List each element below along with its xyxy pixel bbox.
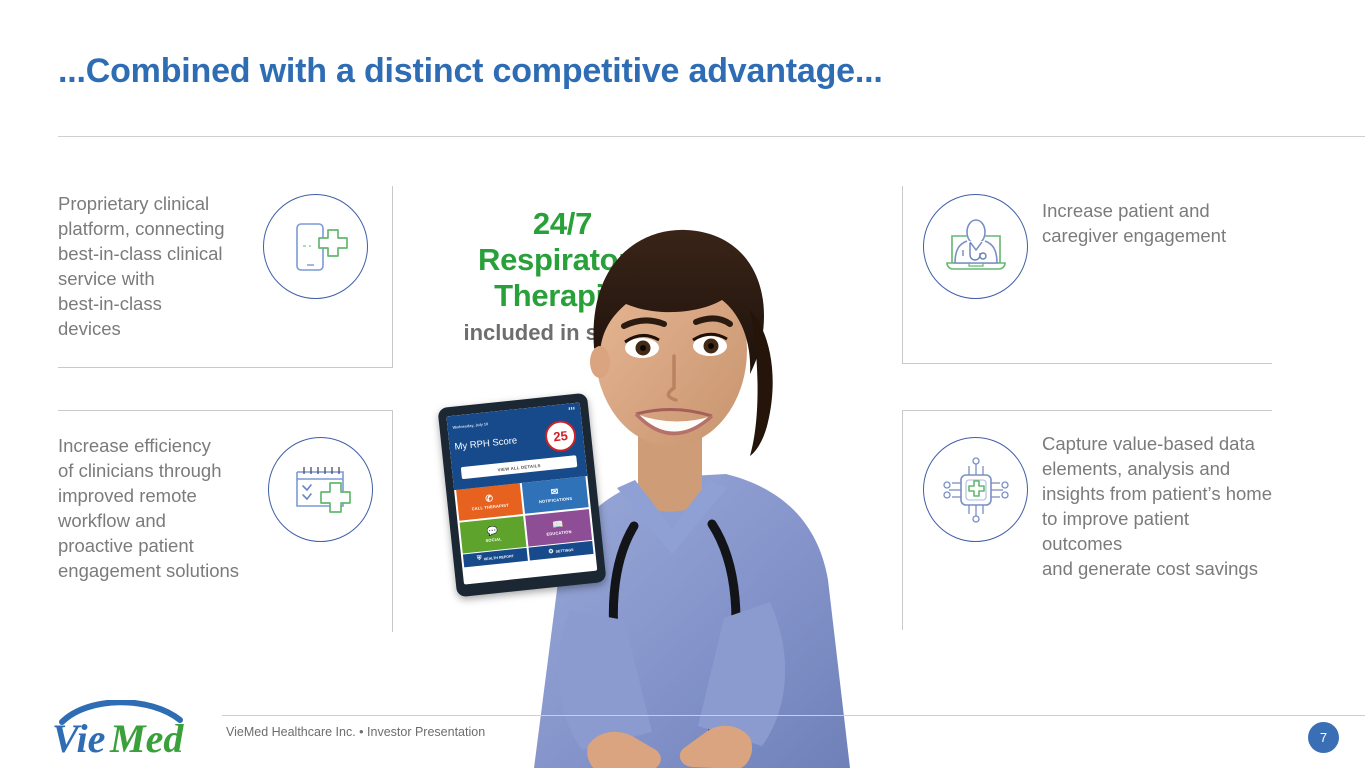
card-proprietary-platform: Proprietary clinical platform, connectin…	[58, 186, 393, 368]
envelope-icon: ✉	[550, 487, 559, 497]
footer-caption: VieMed Healthcare Inc. • Investor Presen…	[226, 725, 485, 739]
shield-icon: ⛨	[477, 556, 482, 563]
phone-icon: ✆	[485, 494, 494, 504]
tile-label-notifications: NOTIFICATIONS	[539, 496, 573, 504]
bar-label-health-report: HEALTH REPORT	[483, 554, 514, 561]
title-divider	[58, 136, 1365, 137]
score-value-badge: 25	[544, 419, 578, 453]
slide-root: ...Combined with a distinct competitive …	[0, 0, 1365, 768]
card-text-bottom-left: Increase efficiency of clinicians throug…	[58, 411, 258, 583]
page-title: ...Combined with a distinct competitive …	[58, 52, 883, 91]
logo-text-med: Med	[109, 716, 184, 760]
book-icon: 📖	[552, 519, 564, 529]
tablet-header: ▮▮▮ Wednesday, July 10 My RPH Score 25 V…	[446, 402, 587, 490]
card-value-based-data: Capture value-based data elements, analy…	[902, 410, 1272, 630]
score-title: My RPH Score	[454, 435, 518, 453]
phone-plus-icon	[263, 194, 368, 299]
doctor-laptop-icon	[923, 194, 1028, 299]
card-text-bottom-right: Capture value-based data elements, analy…	[1042, 411, 1272, 581]
card-text-top-right: Increase patient and caregiver engagemen…	[1042, 186, 1272, 248]
tile-label-call-therapist: CALL THERAPIST	[471, 502, 508, 511]
card-increase-efficiency: Increase efficiency of clinicians throug…	[58, 410, 393, 632]
tile-label-education: EDUCATION	[546, 529, 572, 537]
checklist-plus-icon	[268, 437, 373, 542]
page-number-badge: 7	[1308, 722, 1339, 753]
tablet-screen[interactable]: ▮▮▮ Wednesday, July 10 My RPH Score 25 V…	[446, 402, 597, 584]
viemed-logo: Vie Med	[48, 700, 218, 760]
chip-plus-icon	[923, 437, 1028, 542]
footer-divider	[222, 715, 1365, 716]
logo-text-vie: Vie	[52, 716, 105, 760]
bar-label-settings: SETTINGS	[555, 547, 573, 553]
tablet-device: ▮▮▮ Wednesday, July 10 My RPH Score 25 V…	[437, 393, 606, 598]
chat-bubble-icon: 💬	[487, 526, 499, 536]
signal-battery-icon: ▮▮▮	[568, 406, 575, 411]
card-text-top-left: Proprietary clinical platform, connectin…	[58, 186, 253, 341]
tile-label-social: SOCIAL	[485, 536, 502, 543]
gear-icon: ⚙	[548, 548, 554, 556]
card-patient-engagement: Increase patient and caregiver engagemen…	[902, 186, 1272, 364]
